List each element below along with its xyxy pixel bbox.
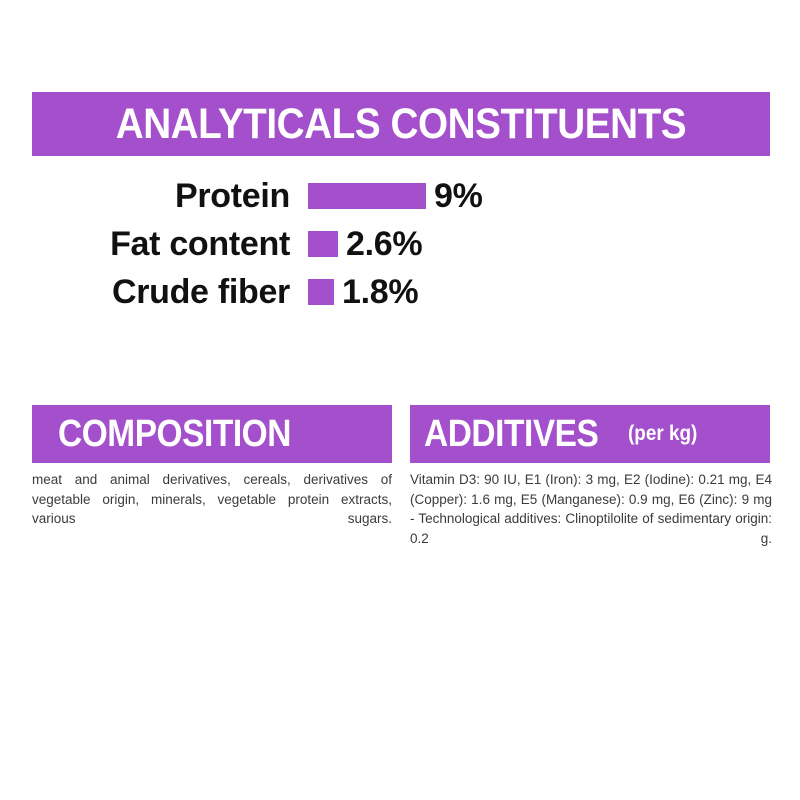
composition-header-title: COMPOSITION xyxy=(58,413,291,456)
nutrient-bar-group: 9% xyxy=(308,179,483,213)
nutrient-bar-crude-fiber xyxy=(308,279,334,305)
analyticals-bar-chart: Protein 9% Fat content 2.6% Crude fiber … xyxy=(0,172,800,316)
nutrient-bar-group: 1.8% xyxy=(308,275,418,309)
nutrient-bar-group: 2.6% xyxy=(308,227,422,261)
nutrient-value-crude-fiber: 1.8% xyxy=(342,275,418,309)
nutrient-row: Fat content 2.6% xyxy=(0,220,800,268)
nutrient-value-fat-content: 2.6% xyxy=(346,227,422,261)
nutrient-label-fat-content: Fat content xyxy=(0,227,290,261)
nutrient-bar-protein xyxy=(308,183,426,209)
additives-header-banner: ADDITIVES (per kg) xyxy=(410,405,770,463)
additives-header-subtitle: (per kg) xyxy=(628,422,697,446)
nutrient-bar-fat-content xyxy=(308,231,338,257)
nutrient-row: Protein 9% xyxy=(0,172,800,220)
nutrition-panel: ANALYTICALS CONSTITUENTS Protein 9% Fat … xyxy=(0,0,800,800)
nutrient-row: Crude fiber 1.8% xyxy=(0,268,800,316)
analyticals-header-title: ANALYTICALS CONSTITUENTS xyxy=(116,100,686,149)
nutrient-label-protein: Protein xyxy=(0,179,290,213)
nutrient-label-crude-fiber: Crude fiber xyxy=(0,275,290,309)
nutrient-value-protein: 9% xyxy=(434,179,483,213)
additives-header-title: ADDITIVES xyxy=(424,413,598,456)
composition-body-text: meat and animal derivatives, cereals, de… xyxy=(32,470,392,548)
composition-header-banner: COMPOSITION xyxy=(32,405,392,463)
footer-brand-bar xyxy=(0,700,800,800)
analyticals-header-banner: ANALYTICALS CONSTITUENTS xyxy=(32,92,770,156)
additives-body-text: Vitamin D3: 90 IU, E1 (Iron): 3 mg, E2 (… xyxy=(410,470,772,568)
